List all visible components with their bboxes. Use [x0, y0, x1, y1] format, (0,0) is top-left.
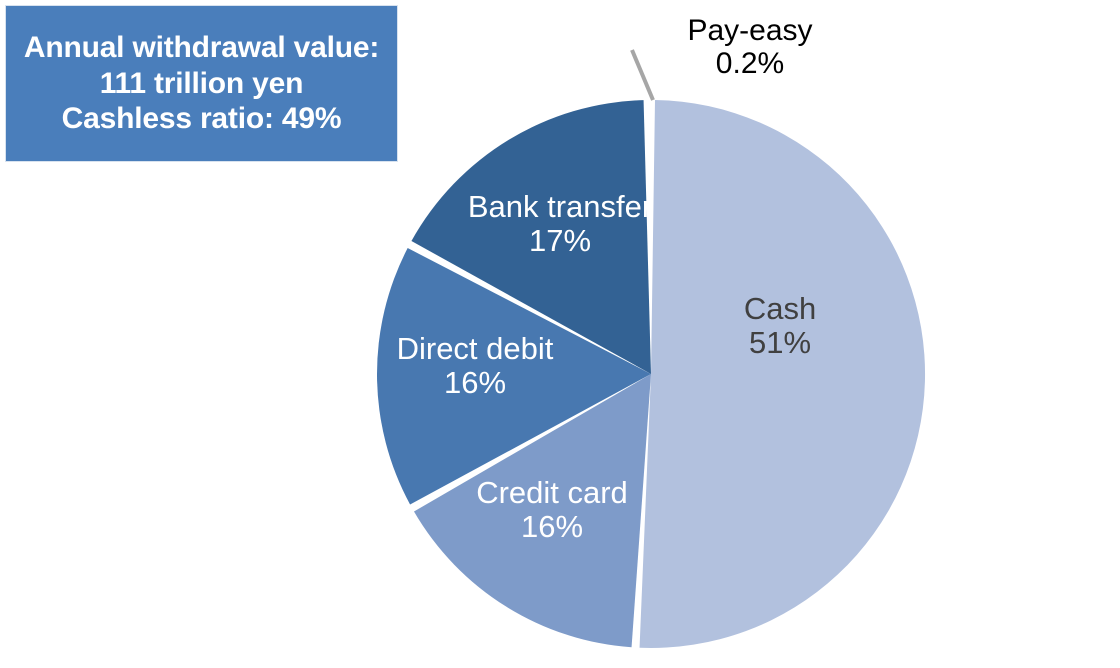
pay-easy-leader-line — [632, 50, 653, 100]
chart-canvas: Annual withdrawal value: 111 trillion ye… — [0, 0, 1120, 668]
pie-slice-cash — [640, 100, 925, 648]
pie-slice-group — [377, 100, 925, 648]
pie-chart — [0, 0, 1120, 668]
